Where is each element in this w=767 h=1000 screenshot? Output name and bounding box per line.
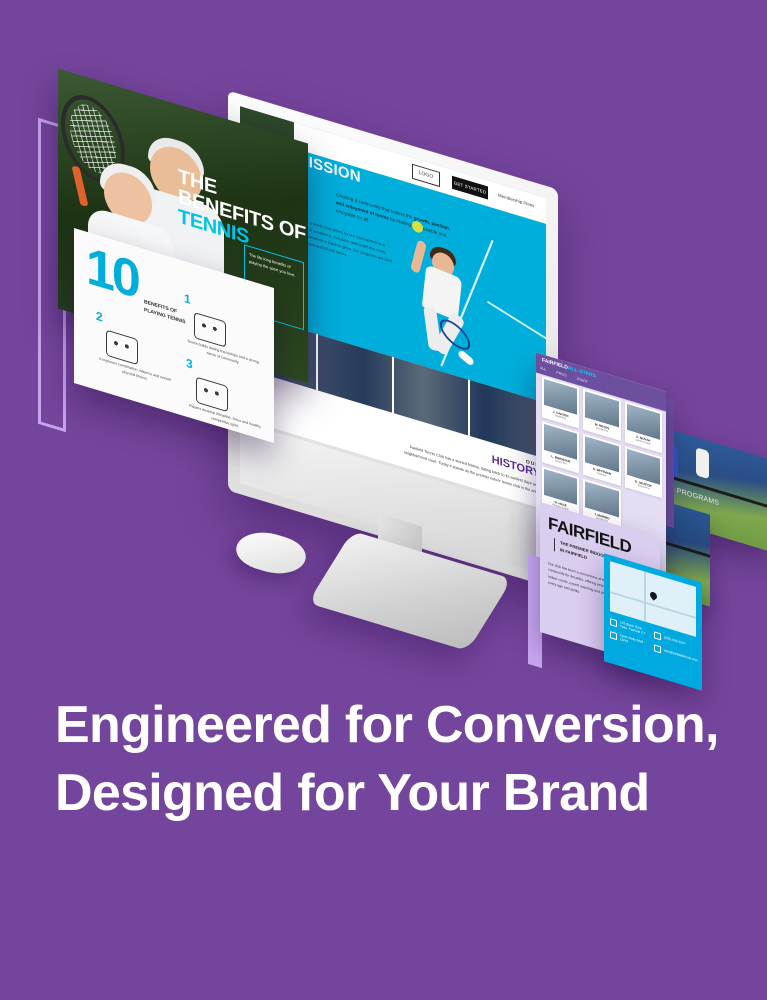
team-member-card[interactable]: J. CARTERHead Pro — [542, 376, 579, 428]
team-member-card[interactable]: D. OKAFORTennis Pro — [625, 446, 662, 498]
team-member-card[interactable]: S. WHITMANDirector — [583, 434, 620, 486]
tab-pros[interactable]: PROS — [556, 371, 566, 378]
benefit-number: 2 — [96, 309, 103, 325]
headline-line-2: Designed for Your Brand — [55, 760, 735, 828]
benefit-number: 1 — [184, 291, 191, 307]
location-icon — [610, 618, 617, 627]
tennis-player-photo — [408, 219, 482, 379]
mockup-stage: LOGO GET STARTED Membership Plans Contac… — [0, 0, 767, 1000]
clock-icon — [610, 631, 617, 640]
team-member-card[interactable]: L. BRENNANTennis Pro — [542, 421, 579, 473]
page-headline: Engineered for Conversion, Designed for … — [55, 692, 735, 827]
team-member-card[interactable]: A. NOVAKJunior Coach — [625, 401, 662, 453]
headline-line-1: Engineered for Conversion, — [55, 696, 719, 754]
gallery-divider — [392, 357, 394, 413]
court-line-2 — [487, 301, 546, 340]
tennis-ball-icon — [412, 220, 423, 234]
benefit-number: 3 — [186, 356, 193, 372]
contact-label: (203) 555-0147 — [664, 636, 686, 647]
map-pin-icon — [649, 591, 659, 601]
get-started-button[interactable]: GET STARTED — [452, 176, 488, 200]
team-member-card[interactable]: M. REYESTennis Pro — [583, 389, 620, 441]
gallery-divider — [316, 334, 318, 390]
mail-icon — [654, 644, 661, 653]
tab-all[interactable]: ALL — [540, 366, 546, 372]
ten-big-number: 10 — [86, 240, 138, 308]
gallery-divider — [468, 380, 470, 436]
junior-player-2 — [696, 447, 709, 479]
player-shoe — [457, 349, 475, 367]
tab-staff[interactable]: STAFF — [577, 377, 588, 384]
player-arm — [410, 239, 427, 274]
magic-mouse[interactable] — [228, 526, 314, 580]
nav-link-membership[interactable]: Membership Plans — [498, 193, 534, 209]
map-road-vertical — [644, 571, 646, 621]
site-logo[interactable]: LOGO — [412, 164, 440, 187]
phone-icon — [654, 631, 661, 640]
